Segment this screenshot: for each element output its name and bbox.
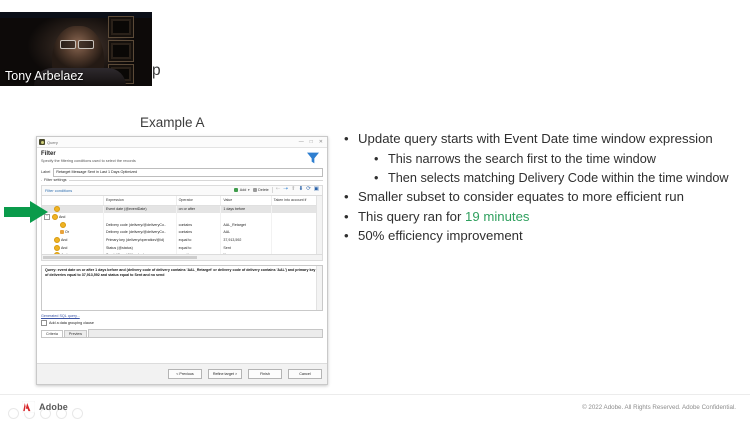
bullet-text: Update query starts with Event Date time… [358, 130, 744, 149]
grouping-clause-checkbox[interactable]: Add a data grouping clause [41, 320, 323, 326]
or-operator-icon [60, 230, 64, 234]
dialog-header: Filter Specify the filtering conditions … [37, 148, 327, 165]
tab-strip-filler [88, 329, 323, 337]
bullet-marker: • [374, 150, 388, 168]
row-tree-cell [42, 205, 103, 213]
table-row[interactable]: −And [42, 213, 322, 221]
list-item: • Update query starts with Event Date ti… [344, 130, 744, 149]
row-operator: contains [176, 221, 221, 229]
bullet-list: • Update query starts with Event Date ti… [344, 130, 744, 247]
copyright-text: © 2022 Adobe. All Rights Reserved. Adobe… [582, 404, 736, 411]
bullet-marker: • [344, 188, 358, 207]
query-summary-text: Query: event date on or after 1 days bef… [45, 268, 315, 277]
save-icon[interactable]: ▣ [314, 187, 319, 193]
query-dialog-screenshot: Query — □ ✕ Filter Specify the filtering… [36, 136, 328, 385]
row-operator: equal to [176, 236, 221, 244]
chevron-down-icon: ▾ [248, 188, 250, 192]
example-label: Example A [140, 115, 205, 130]
dialog-tabs: Criteria Preview [41, 329, 323, 338]
table-row[interactable]: Delivery code (delivery/@deliveryCo.. co… [42, 221, 322, 229]
row-value: 37,913,592 [221, 236, 271, 244]
runtime-highlight: 19 minutes [465, 209, 530, 224]
condition-dot-icon [60, 222, 66, 228]
delete-condition-button[interactable]: Delete [253, 188, 269, 192]
condition-dot-icon [54, 237, 60, 243]
condition-dot-icon [54, 206, 60, 212]
play-icon[interactable] [8, 408, 19, 419]
dialog-title-bar: Query — □ ✕ [37, 137, 327, 148]
condition-dot-icon [52, 214, 58, 220]
tab-preview[interactable]: Preview [64, 330, 87, 337]
filter-conditions-table: Expression Operator Value Taken into acc… [42, 196, 322, 255]
row-value: 1 days before [221, 205, 271, 213]
cancel-button[interactable]: Cancel [288, 369, 322, 379]
row-tree-cell: Or [42, 229, 103, 237]
move-left-arrow-icon[interactable]: ⇠ [276, 187, 281, 193]
finish-button[interactable]: Finish [248, 369, 282, 379]
row-expression: Primary key (delivery/operation/@id) [103, 236, 176, 244]
table-vertical-scrollbar[interactable] [316, 196, 322, 254]
bullet-marker: • [344, 227, 358, 246]
previous-button[interactable]: < Previous [168, 369, 202, 379]
column-header-tree [42, 196, 103, 206]
row-value: Sent [221, 244, 271, 252]
filter-conditions-toolbar: Filter conditions Add ▾ Delete ⇠ ⇢ ⬆ ⬇ [41, 185, 323, 195]
row-tree-cell: −And [42, 213, 103, 221]
table-row[interactable]: Event date (@eventDate) on or after 1 da… [42, 205, 322, 213]
list-item: • Smaller subset to consider equates to … [344, 188, 744, 207]
list-item: • This narrows the search first to the t… [344, 150, 744, 168]
row-taken-into-account [271, 213, 321, 221]
table-row[interactable]: And Status (@status) equal to Sent [42, 244, 322, 252]
checkbox-label: Add a data grouping clause [49, 321, 94, 325]
bullet-text: This narrows the search first to the tim… [388, 150, 744, 168]
row-conjunction: Or [65, 230, 69, 234]
tab-criteria[interactable]: Criteria [41, 330, 63, 337]
dialog-body: Filter Specify the filtering conditions … [37, 148, 327, 384]
close-icon[interactable]: ✕ [319, 139, 323, 145]
minimize-icon[interactable]: — [299, 139, 304, 145]
move-up-arrow-icon[interactable]: ⬆ [291, 187, 296, 193]
summary-scrollbar[interactable] [316, 266, 322, 310]
row-tree-cell: And [42, 244, 103, 252]
add-condition-button[interactable]: Add ▾ [234, 188, 249, 192]
row-taken-into-account [271, 229, 321, 237]
settings-icon[interactable] [72, 408, 83, 419]
row-expression: Status (@status) [103, 244, 176, 252]
bullet-text: 50% efficiency improvement [358, 227, 744, 246]
row-conjunction: And [61, 238, 67, 242]
list-item: • Then selects matching Delivery Code wi… [344, 169, 744, 187]
delete-icon [253, 188, 257, 192]
bullet-text: Smaller subset to consider equates to mo… [358, 188, 744, 207]
list-item: • 50% efficiency improvement [344, 227, 744, 246]
table-header-row: Expression Operator Value Taken into acc… [42, 196, 322, 206]
row-tree-cell [42, 221, 103, 229]
row-taken-into-account [271, 205, 321, 213]
row-operator: on or after [176, 205, 221, 213]
adobe-logo: Adobe [22, 401, 68, 413]
add-icon [234, 188, 238, 192]
row-conjunction: And [59, 215, 65, 219]
row-expression: Delivery code (delivery/@deliveryCo.. [103, 229, 176, 237]
bullet-text: Then selects matching Delivery Code with… [388, 169, 744, 187]
row-taken-into-account [271, 221, 321, 229]
app-icon [39, 139, 45, 145]
dialog-subheading: Specify the filtering conditions used to… [41, 159, 323, 163]
label-field-caption: Label [41, 170, 50, 174]
column-header-operator: Operator [176, 196, 221, 206]
query-summary-box: Query: event date on or after 1 days bef… [41, 265, 323, 311]
presentation-slide: zation ressions to the top Example A • U… [0, 0, 750, 421]
generated-sql-link[interactable]: Generated SQL query... [41, 314, 323, 318]
column-header-value: Value [221, 196, 271, 206]
row-value [221, 213, 271, 221]
add-label: Add [240, 188, 247, 192]
filter-funnel-icon [305, 150, 321, 166]
condition-dot-icon [54, 245, 60, 251]
scrollbar-thumb[interactable] [43, 256, 197, 259]
slide-footer: Adobe © 2022 Adobe. All Rights Reserved.… [0, 394, 750, 421]
move-right-arrow-icon[interactable]: ⇢ [283, 187, 288, 193]
row-conjunction: And [61, 246, 67, 250]
row-operator [176, 213, 221, 221]
row-expression [103, 213, 176, 221]
label-field-row: Label Retarget Message Sent in Last 1 Da… [37, 168, 327, 177]
row-taken-into-account [271, 236, 321, 244]
participant-name-label: Tony Arbelaez [5, 69, 84, 83]
table-row[interactable]: And Primary key (delivery/operation/@id)… [42, 236, 322, 244]
column-header-expression: Expression [103, 196, 176, 206]
table-row[interactable]: Or Delivery code (delivery/@deliveryCo..… [42, 229, 322, 237]
bullet-marker: • [374, 169, 388, 187]
dialog-title: Query [47, 140, 299, 145]
table-horizontal-scrollbar[interactable] [41, 255, 323, 261]
glasses [60, 40, 94, 47]
adobe-mark-icon [22, 401, 35, 413]
filter-conditions-title: Filter conditions [45, 188, 231, 193]
filter-settings-legend: Filter settings [42, 178, 69, 182]
adobe-wordmark: Adobe [39, 402, 68, 412]
label-input[interactable]: Retarget Message Sent in Last 1 Days Opt… [53, 168, 323, 177]
row-tree-cell: And [42, 236, 103, 244]
bullet-marker: • [344, 208, 358, 227]
list-item: • This query ran for 19 minutes [344, 208, 744, 227]
row-operator: equal to [176, 244, 221, 252]
delete-label: Delete [258, 188, 269, 192]
wall-picture-frame [108, 40, 134, 62]
filter-conditions-table-wrap: Expression Operator Value Taken into acc… [41, 195, 323, 255]
refresh-icon[interactable]: ⟳ [306, 187, 311, 193]
dialog-footer: < Previous Refine target > Finish Cancel [37, 363, 327, 384]
bullet-marker: • [344, 130, 358, 149]
row-value: AAL [221, 229, 271, 237]
window-controls: — □ ✕ [299, 139, 325, 145]
bullet-text: This query ran for 19 minutes [358, 208, 744, 227]
refine-target-button[interactable]: Refine target > [208, 369, 242, 379]
row-taken-into-account [271, 244, 321, 252]
green-pointer-arrow [4, 201, 48, 223]
bullet-text-lead: This query ran for [358, 209, 465, 224]
row-expression: Event date (@eventDate) [103, 205, 176, 213]
checkbox-box[interactable] [41, 320, 47, 326]
toolbar-divider [272, 187, 273, 193]
webcam-overlay[interactable]: Tony Arbelaez [0, 12, 152, 86]
row-operator: contains [176, 229, 221, 237]
row-value: AAL_Retarget [221, 221, 271, 229]
filter-settings-group: Filter settings Filter conditions Add ▾ … [41, 180, 323, 261]
move-down-arrow-icon[interactable]: ⬇ [299, 187, 304, 193]
wall-picture-frame [108, 16, 134, 38]
maximize-icon[interactable]: □ [310, 139, 313, 145]
dialog-heading: Filter [41, 151, 323, 157]
column-header-taken-into-account: Taken into account if [271, 196, 321, 206]
row-expression: Delivery code (delivery/@deliveryCo.. [103, 221, 176, 229]
